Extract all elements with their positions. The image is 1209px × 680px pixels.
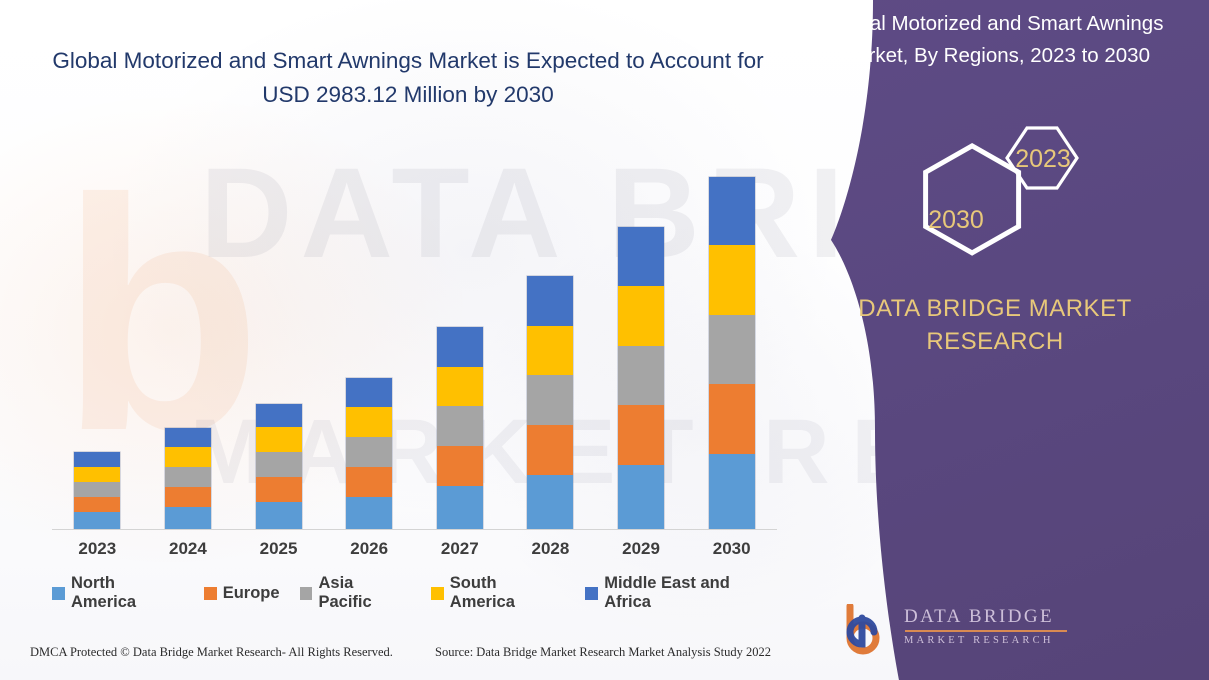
x-label-2027: 2027: [437, 539, 483, 559]
company-logo: DATA BRIDGE MARKET RESEARCH: [840, 602, 1080, 658]
footer-copyright: DMCA Protected © Data Bridge Market Rese…: [30, 645, 393, 660]
bar-segment[interactable]: [346, 497, 392, 529]
x-label-2025: 2025: [256, 539, 302, 559]
bar-segment[interactable]: [346, 437, 392, 467]
bar-segment[interactable]: [74, 452, 120, 467]
legend-label: Middle East and Africa: [604, 574, 780, 612]
logo-divider: [905, 630, 1067, 632]
bar-segment[interactable]: [256, 427, 302, 452]
bar-segment[interactable]: [165, 467, 211, 487]
legend-item-north-america[interactable]: North America: [52, 574, 184, 612]
bar-segment[interactable]: [618, 346, 664, 406]
footer: DMCA Protected © Data Bridge Market Rese…: [0, 645, 790, 667]
bar-segment[interactable]: [437, 406, 483, 446]
panel-title: Global Motorized and Smart Awnings Marke…: [791, 8, 1199, 72]
bar-2027[interactable]: [437, 327, 483, 529]
logo-line1: DATA BRIDGE: [904, 606, 1084, 628]
bar-segment[interactable]: [437, 446, 483, 486]
bar-segment[interactable]: [527, 425, 573, 475]
legend-swatch-icon: [204, 587, 217, 600]
bar-2029[interactable]: [618, 227, 664, 529]
bar-segment[interactable]: [709, 245, 755, 315]
logo-line2: MARKET RESEARCH: [904, 635, 1084, 646]
bar-segment[interactable]: [165, 507, 211, 529]
x-label-2029: 2029: [618, 539, 664, 559]
hexagon-2030-label: 2030: [928, 206, 984, 234]
legend-item-middle-east-and-africa[interactable]: Middle East and Africa: [585, 574, 780, 612]
legend-label: Europe: [223, 584, 280, 603]
x-label-2024: 2024: [165, 539, 211, 559]
bar-segment[interactable]: [437, 486, 483, 529]
hexagon-badges: 2030 2023: [907, 118, 1117, 278]
bar-segment[interactable]: [165, 487, 211, 507]
x-label-2030: 2030: [709, 539, 755, 559]
legend-swatch-icon: [585, 587, 598, 600]
bar-segment[interactable]: [74, 512, 120, 529]
bar-2026[interactable]: [346, 378, 392, 529]
bar-segment[interactable]: [74, 467, 120, 482]
chart-plot-area: [52, 160, 777, 530]
x-axis-labels: 20232024202520262027202820292030: [52, 536, 777, 562]
bar-segment[interactable]: [437, 327, 483, 367]
infographic-canvas: b DATA BRIDGE MARKET RESEARCH Global Mot…: [0, 0, 1209, 680]
bar-segment[interactable]: [618, 465, 664, 529]
bar-segment[interactable]: [618, 227, 664, 286]
bar-segment[interactable]: [256, 477, 302, 502]
bar-2028[interactable]: [527, 276, 573, 529]
legend-label: North America: [71, 574, 184, 612]
bar-segment[interactable]: [256, 404, 302, 427]
bar-2024[interactable]: [165, 428, 211, 529]
bar-2030[interactable]: [709, 177, 755, 529]
hexagon-2030-shape: [926, 146, 1019, 253]
x-label-2028: 2028: [527, 539, 573, 559]
legend-item-south-america[interactable]: South America: [431, 574, 565, 612]
hexagon-2023-label: 2023: [1015, 145, 1071, 173]
bar-segment[interactable]: [709, 454, 755, 529]
chart-title: Global Motorized and Smart Awnings Marke…: [38, 44, 778, 112]
bar-segment[interactable]: [346, 407, 392, 437]
bar-segment[interactable]: [256, 502, 302, 529]
bar-segment[interactable]: [618, 286, 664, 346]
bar-segment[interactable]: [74, 482, 120, 497]
logo-mark-icon: [840, 604, 896, 656]
bar-segment[interactable]: [346, 378, 392, 407]
legend-item-europe[interactable]: Europe: [204, 584, 280, 603]
legend-item-asia-pacific[interactable]: Asia Pacific: [300, 574, 411, 612]
brand-name: DATA BRIDGE MARKET RESEARCH: [789, 292, 1201, 358]
bar-segment[interactable]: [165, 447, 211, 467]
bar-group: [52, 160, 777, 529]
bar-segment[interactable]: [709, 177, 755, 245]
bar-segment[interactable]: [527, 375, 573, 425]
bar-segment[interactable]: [527, 276, 573, 326]
logo-wordmark: DATA BRIDGE MARKET RESEARCH: [904, 606, 1084, 646]
chart-legend: North AmericaEuropeAsia PacificSouth Ame…: [52, 580, 780, 606]
bar-segment[interactable]: [437, 367, 483, 407]
bar-2025[interactable]: [256, 404, 302, 529]
bar-2023[interactable]: [74, 452, 120, 529]
bar-segment[interactable]: [74, 497, 120, 512]
bar-segment[interactable]: [256, 452, 302, 477]
bar-segment[interactable]: [709, 315, 755, 385]
bar-segment[interactable]: [346, 467, 392, 497]
bar-segment[interactable]: [709, 384, 755, 454]
bar-segment[interactable]: [618, 405, 664, 465]
legend-swatch-icon: [431, 587, 444, 600]
x-label-2023: 2023: [74, 539, 120, 559]
x-axis-line: [52, 529, 777, 530]
legend-swatch-icon: [52, 587, 65, 600]
legend-label: South America: [450, 574, 565, 612]
legend-label: Asia Pacific: [318, 574, 410, 612]
bar-segment[interactable]: [527, 475, 573, 529]
legend-swatch-icon: [300, 587, 313, 600]
bar-segment[interactable]: [527, 326, 573, 376]
x-label-2026: 2026: [346, 539, 392, 559]
bar-segment[interactable]: [165, 428, 211, 447]
footer-source: Source: Data Bridge Market Research Mark…: [435, 645, 771, 660]
